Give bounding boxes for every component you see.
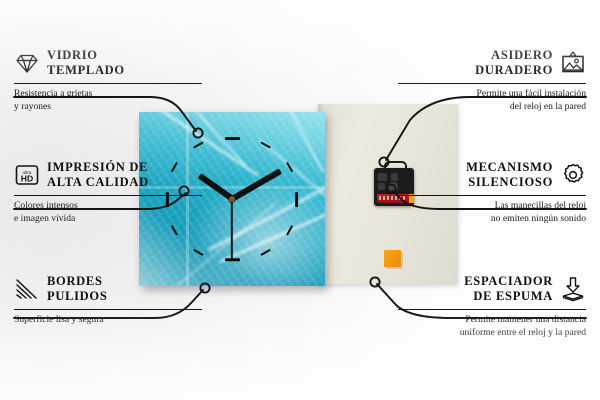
feature-title: ASIDERO DURADERO xyxy=(475,48,553,79)
feature-description: Resistencia a grietas y rayones xyxy=(14,88,202,113)
hanging-frame-icon xyxy=(560,50,586,76)
feature-divider xyxy=(398,83,586,84)
feature-header: BORDES PULIDOS xyxy=(14,274,202,305)
infographic-canvas: VIDRIO TEMPLADO Resistencia a grietas y … xyxy=(0,0,600,400)
feature-header: VIDRIO TEMPLADO xyxy=(14,48,202,79)
feature-header: ASIDERO DURADERO xyxy=(398,48,586,79)
feature-header: MECANISMO SILENCIOSO xyxy=(398,160,586,191)
mechanism-part xyxy=(388,182,398,191)
feature-mecanismo-silencioso: MECANISMO SILENCIOSO Las manecillas del … xyxy=(398,160,586,225)
clock-second-hand xyxy=(231,199,233,261)
foam-spacer-icon xyxy=(560,276,586,302)
feature-description: Colores intensos e imagen vívida xyxy=(14,200,202,225)
feature-divider xyxy=(398,309,586,310)
feature-divider xyxy=(14,83,202,84)
feature-header: ultra HD IMPRESIÓN DE ALTA CALIDAD xyxy=(14,160,202,191)
feature-header: ESPACIADOR DE ESPUMA xyxy=(398,274,586,305)
feature-asidero-duradero: ASIDERO DURADERO Permite una fácil insta… xyxy=(398,48,586,113)
svg-text:HD: HD xyxy=(21,174,33,184)
feature-bordes-pulidos: BORDES PULIDOS Superficie lisa y segura xyxy=(14,274,202,327)
feature-title: VIDRIO TEMPLADO xyxy=(47,48,125,79)
feature-description: Permite una fácil instalación del reloj … xyxy=(398,88,586,113)
feature-divider xyxy=(398,195,586,196)
feature-vidrio-templado: VIDRIO TEMPLADO Resistencia a grietas y … xyxy=(14,48,202,113)
ultra-hd-icon: ultra HD xyxy=(14,162,40,188)
mechanism-part xyxy=(378,183,385,190)
clock-hour-tick xyxy=(225,137,240,140)
mechanism-part xyxy=(378,173,387,181)
feature-impresion-alta-calidad: ultra HD IMPRESIÓN DE ALTA CALIDAD Color… xyxy=(14,160,202,225)
foam-spacer-pad xyxy=(384,250,401,267)
feature-divider xyxy=(14,195,202,196)
feature-divider xyxy=(14,309,202,310)
mechanism-part xyxy=(391,173,398,181)
diamond-icon xyxy=(14,50,40,76)
feature-description: Permite mantener una distancia uniforme … xyxy=(398,314,586,339)
feature-title: MECANISMO SILENCIOSO xyxy=(466,160,553,191)
feature-description: Las manecillas del reloj no emiten ningú… xyxy=(398,200,586,225)
polished-edges-icon xyxy=(14,276,40,302)
feature-title: IMPRESIÓN DE ALTA CALIDAD xyxy=(47,160,149,191)
feature-espaciador-de-espuma: ESPACIADOR DE ESPUMA Permite mantener un… xyxy=(398,274,586,339)
clock-hour-tick xyxy=(295,192,298,207)
feature-title: BORDES PULIDOS xyxy=(47,274,107,305)
clock-center-hub xyxy=(229,196,235,202)
feature-title: ESPACIADOR DE ESPUMA xyxy=(464,274,553,305)
feature-description: Superficie lisa y segura xyxy=(14,314,202,327)
gear-icon xyxy=(560,162,586,188)
